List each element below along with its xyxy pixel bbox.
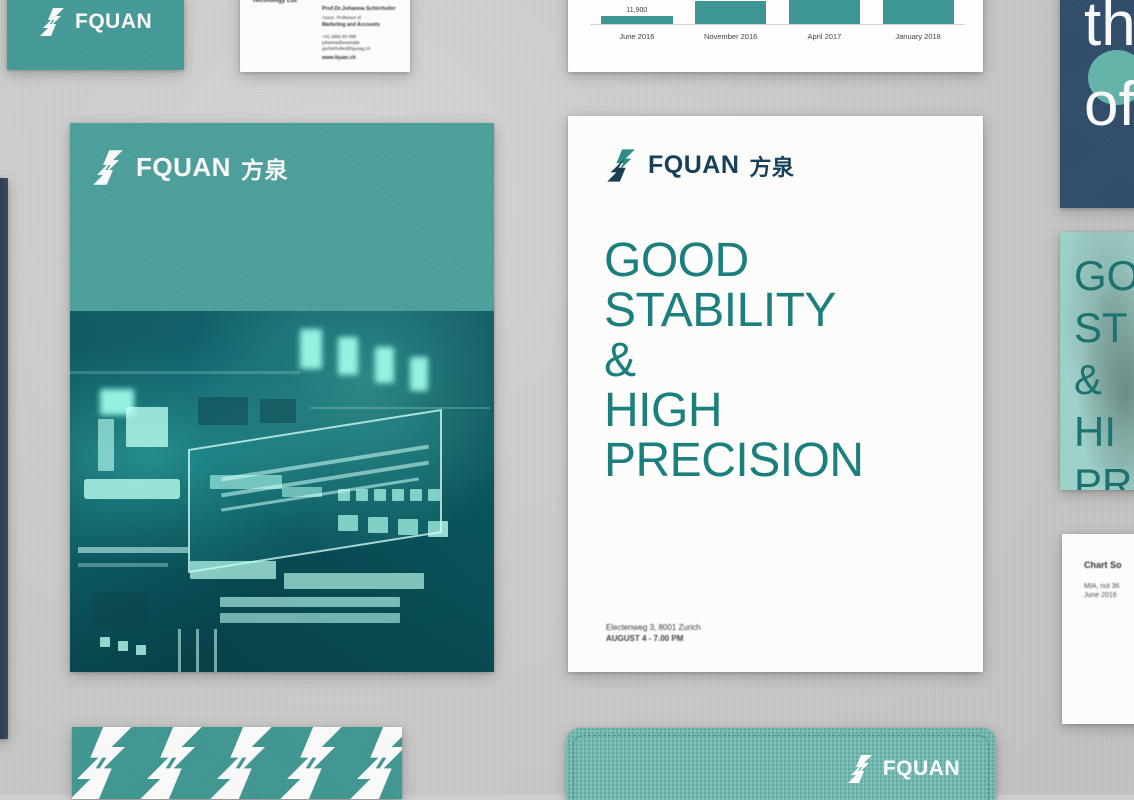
fquan-mark-icon xyxy=(72,727,136,799)
pattern-card xyxy=(72,727,402,799)
x-axis-tick-label: April 2017 xyxy=(778,32,872,41)
navy-card-edge-left xyxy=(0,178,8,739)
bar-column: 34,000 xyxy=(684,0,778,24)
teal-line-4: PR xyxy=(1074,458,1134,490)
fquan-mark-icon xyxy=(39,7,65,37)
fquan-mark-icon xyxy=(847,754,873,784)
poster-footer: Electenweg 3, 8001 Zurich AUGUST 4 - 7.0… xyxy=(606,622,701,644)
mockup-stage: FQUAN Technology Ltd. Prof.Dr.Johanna Sc… xyxy=(0,0,1134,795)
chart-card: 11,90034,000 June 2016November 2016April… xyxy=(568,0,983,72)
teal-line-2: & xyxy=(1074,354,1134,406)
brochure-header: FQUAN 方泉 xyxy=(70,123,494,311)
poster-address: Electenweg 3, 8001 Zurich xyxy=(606,622,701,633)
fquan-mark-icon xyxy=(206,727,276,799)
teal-poster-headline: GO ST & HI PR xyxy=(1074,250,1134,490)
poster-event-time: AUGUST 4 - 7.00 PM xyxy=(606,633,701,644)
fquan-mark-icon xyxy=(136,727,206,799)
logo-cjk: 方泉 xyxy=(241,151,288,185)
teal-folder: FQUAN xyxy=(566,728,996,800)
logo-wordmark: FQUAN xyxy=(648,151,739,180)
navy-line-2: of xyxy=(1084,74,1134,136)
logo-lockup: FQUAN xyxy=(39,7,152,37)
bar-column xyxy=(871,0,965,24)
headline-line-1: STABILITY xyxy=(604,286,963,336)
headline-line-3: HIGH xyxy=(604,386,963,436)
biz-card-line-0: Technology Ltd. xyxy=(252,0,298,4)
x-axis-line xyxy=(590,24,965,25)
logo-lockup: FQUAN xyxy=(847,754,960,784)
biz-card-line-4: +41 1892 90 088 xyxy=(322,34,356,39)
fquan-mark-icon xyxy=(276,727,346,799)
source-card-sub: MIA, nul 36 June 2016 xyxy=(1084,582,1119,600)
bar-chart: 11,90034,000 June 2016November 2016April… xyxy=(590,0,965,46)
fquan-mark-icon xyxy=(606,148,636,183)
circuit-board-photo xyxy=(70,311,494,672)
fquan-mark-icon xyxy=(92,149,124,186)
logo-cjk: 方泉 xyxy=(749,150,794,182)
teal-line-1: ST xyxy=(1074,302,1134,354)
source-sub-line-2: June 2016 xyxy=(1084,591,1119,600)
logo-lockup: FQUAN 方泉 xyxy=(92,149,288,186)
logo-card: FQUAN xyxy=(7,0,184,70)
biz-card-line-6: gschirrhofer@fqunag.ch xyxy=(322,46,370,51)
pattern-motif-row xyxy=(72,727,402,799)
headline-line-4: PRECISION xyxy=(604,436,963,486)
poster-headline: GOOD STABILITY & HIGH PRECISION xyxy=(604,236,963,486)
teal-line-0: GO xyxy=(1074,250,1134,302)
biz-card-line-7: www.fquan.ch xyxy=(322,55,356,61)
logo-lockup: FQUAN 方泉 xyxy=(606,148,794,183)
x-axis-labels: June 2016November 2016April 2017January … xyxy=(590,32,965,41)
bar xyxy=(695,1,766,24)
chart-source-card: Chart So MIA, nul 36 June 2016 xyxy=(1062,534,1134,724)
x-axis-tick-label: January 2018 xyxy=(871,32,965,41)
headline-line-2: & xyxy=(604,336,963,386)
biz-card-line-1: Prof.Dr.Johanna Schirrhofer xyxy=(322,6,396,12)
logo-wordmark: FQUAN xyxy=(883,757,960,781)
logo-wordmark: FQUAN xyxy=(75,10,152,34)
logo-wordmark: FQUAN xyxy=(136,152,231,183)
bar-series: 11,90034,000 xyxy=(590,0,965,24)
brochure-cover: FQUAN 方泉 xyxy=(70,123,494,672)
biz-card-line-2: Assoc. Professor of xyxy=(322,15,361,20)
business-card: Technology Ltd. Prof.Dr.Johanna Schirrho… xyxy=(240,0,410,72)
bar-column: 11,900 xyxy=(590,0,684,24)
main-poster: FQUAN 方泉 GOOD STABILITY & HIGH PRECISION… xyxy=(568,116,983,672)
x-axis-tick-label: June 2016 xyxy=(590,32,684,41)
teal-poster: GO ST & HI PR xyxy=(1060,232,1134,490)
biz-card-line-5: johanna@example xyxy=(322,40,360,45)
bar xyxy=(883,0,954,24)
navy-poster: th of xyxy=(1060,0,1134,208)
headline-line-0: GOOD xyxy=(604,236,963,286)
bar-value-label: 11,900 xyxy=(626,7,647,14)
bar xyxy=(601,16,672,24)
bar-column xyxy=(778,0,872,24)
source-card-title: Chart So xyxy=(1084,560,1122,570)
biz-card-line-3: Marketing and Accounts xyxy=(322,22,380,28)
x-axis-tick-label: November 2016 xyxy=(684,32,778,41)
source-sub-line-1: MIA, nul 36 xyxy=(1084,582,1119,591)
bar xyxy=(789,0,860,24)
fquan-mark-icon xyxy=(346,727,402,799)
navy-line-1: th xyxy=(1084,0,1134,56)
teal-line-3: HI xyxy=(1074,406,1134,458)
